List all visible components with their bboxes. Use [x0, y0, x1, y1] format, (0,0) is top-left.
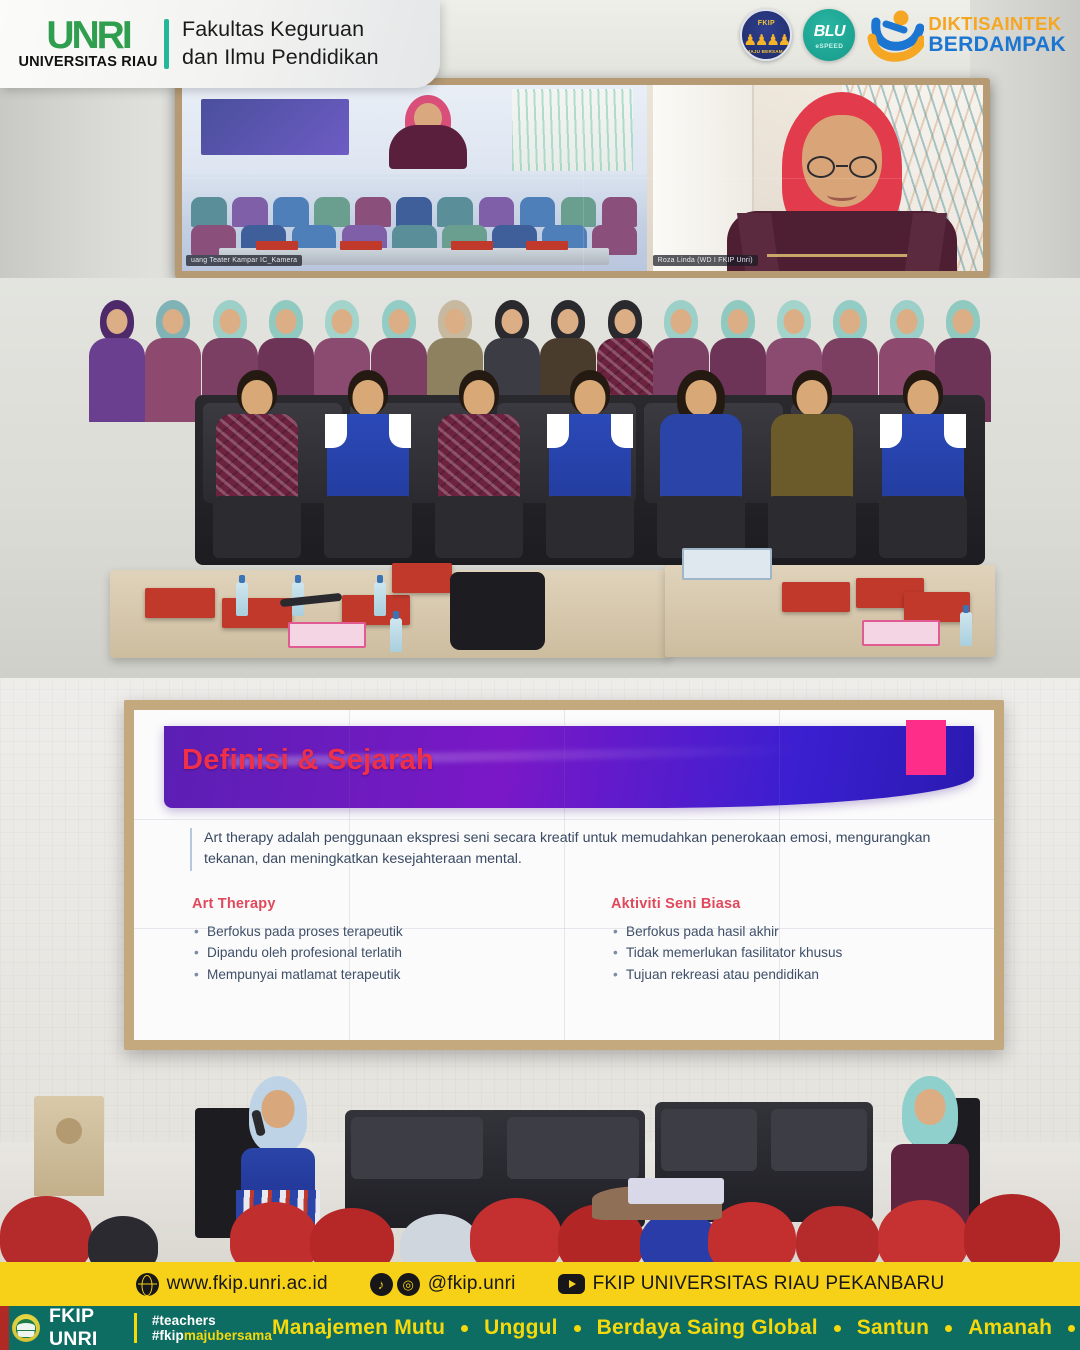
backpack	[450, 572, 545, 650]
footer-hashtags: #teachers #fkipmajubersama	[152, 1313, 272, 1343]
blu-sub: eSPEED	[803, 43, 855, 50]
youtube-channel: FKIP UNIVERSITAS RIAU PEKANBARU	[593, 1273, 945, 1295]
instagram-icon: ◎	[397, 1273, 420, 1296]
youtube-item[interactable]: FKIP UNIVERSITAS RIAU PEKANBARU	[558, 1273, 945, 1295]
slide-column-left: Art Therapy Berfokus pada proses terapeu…	[192, 896, 563, 985]
tagline-word: Berdaya Saing Global	[597, 1316, 818, 1340]
tagline-word: Manajemen Mutu	[272, 1316, 445, 1340]
footer-red-accent	[0, 1306, 9, 1350]
footer-divider	[134, 1313, 137, 1343]
social-handle: @fkip.unri	[428, 1273, 516, 1295]
list-item: Tujuan rekreasi atau pendidikan	[611, 964, 982, 985]
website-item[interactable]: www.fkip.unri.ac.id	[136, 1273, 328, 1296]
list-item: Tidak memerlukan fasilitator khusus	[611, 942, 982, 963]
partner-logos: FKIP ♟♟♟♟ MAJU BERSAMA BLU eSPEED	[740, 8, 1066, 62]
video-wall-bezel-grid	[182, 85, 983, 271]
tagline-dot	[945, 1325, 952, 1332]
tagline-words: Manajemen Mutu Unggul Berdaya Saing Glob…	[272, 1316, 1080, 1340]
slide-pink-accent	[906, 720, 946, 775]
tissue-box	[682, 548, 772, 580]
blu-espeed-logo: BLU eSPEED	[803, 9, 855, 61]
list-item: Berfokus pada hasil akhir	[611, 921, 982, 942]
column-heading: Art Therapy	[192, 896, 563, 912]
footer-brand-name: FKIP UNRI	[49, 1305, 123, 1350]
list-item: Mempunyai matlamat terapeutik	[192, 964, 563, 985]
globe-icon	[136, 1273, 159, 1296]
tagline-word: Santun	[857, 1316, 929, 1340]
presentation-screen: Definisi & Sejarah Art therapy adalah pe…	[124, 700, 1004, 1050]
tiktok-icon: ♪	[370, 1273, 393, 1296]
gift-box	[145, 588, 215, 618]
photo-seminar-session: Definisi & Sejarah Art therapy adalah pe…	[0, 678, 1080, 1262]
running-figure-icon	[866, 8, 924, 62]
fkip-badge-bottom: MAJU BERSAMA	[742, 49, 790, 54]
slide-title: Definisi & Sejarah	[182, 744, 434, 777]
faculty-line-2: dan Ilmu Pendidikan	[182, 44, 379, 72]
slide-content: Definisi & Sejarah Art therapy adalah pe…	[134, 710, 994, 1040]
footer-brand: FKIP UNRI #teachers #fkipmajubersama	[0, 1305, 272, 1350]
faculty-line-1: Fakultas Keguruan	[182, 16, 379, 44]
youtube-icon	[558, 1274, 585, 1294]
tut-wuri-handayani-icon	[12, 1314, 40, 1342]
unri-mark-text: UNRI	[46, 14, 129, 57]
dikti-line-1: DIKTISAINTEK	[928, 15, 1066, 34]
header-banner: UNRI UNIVERSITAS RIAU Fakultas Keguruan …	[0, 0, 440, 88]
header-divider	[164, 19, 169, 69]
tagline-word: Amanah	[968, 1316, 1052, 1340]
unri-logo: UNRI UNIVERSITAS RIAU	[0, 18, 162, 71]
people-icon: ♟♟♟♟	[742, 31, 790, 49]
poster-root: uang Teater Kampar IC_Kamera Roza Linda …	[0, 0, 1080, 1350]
slide-paragraph: Art therapy adalah penggunaan ekspresi s…	[190, 828, 950, 871]
hashtag-prefix: #fkip	[152, 1328, 184, 1343]
unri-logo-subtitle: UNIVERSITAS RIAU	[14, 54, 162, 70]
photo-group-ceremony: uang Teater Kampar IC_Kamera Roza Linda …	[0, 0, 1080, 678]
list-item: Dipandu oleh profesional terlatih	[192, 942, 563, 963]
gift-box	[392, 563, 452, 593]
website-url: www.fkip.unri.ac.id	[167, 1273, 328, 1295]
social-item[interactable]: ♪ ◎ @fkip.unri	[370, 1273, 516, 1296]
dikti-line-2: BERDAMPAK	[928, 34, 1066, 55]
snack-box	[862, 620, 940, 646]
tagline-dot	[1068, 1325, 1075, 1332]
gift-box	[782, 582, 850, 612]
vip-seated-row	[205, 370, 975, 570]
tagline-dot	[834, 1325, 841, 1332]
fkip-badge-top: FKIP	[742, 20, 790, 27]
fkip-badge-logo: FKIP ♟♟♟♟ MAJU BERSAMA	[740, 9, 792, 61]
video-wall-screen: uang Teater Kampar IC_Kamera Roza Linda …	[175, 78, 990, 278]
column-heading: Aktiviti Seni Biasa	[611, 896, 982, 912]
hashtag-accent: majubersama	[184, 1328, 272, 1343]
blu-main: BLU	[803, 23, 855, 41]
column-list: Berfokus pada proses terapeutik Dipandu …	[192, 921, 563, 985]
slide-column-right: Aktiviti Seni Biasa Berfokus pada hasil …	[611, 896, 982, 985]
column-list: Berfokus pada hasil akhir Tidak memerluk…	[611, 921, 982, 985]
contact-bar: www.fkip.unri.ac.id ♪ ◎ @fkip.unri FKIP …	[0, 1262, 1080, 1306]
audience-row	[0, 1152, 1080, 1262]
tagline-dot	[461, 1325, 468, 1332]
tagline-word: Unggul	[484, 1316, 558, 1340]
slide-columns: Art Therapy Berfokus pada proses terapeu…	[192, 896, 982, 985]
hashtag-majubersama: #fkipmajubersama	[152, 1328, 272, 1343]
diktisaintek-logo: DIKTISAINTEK BERDAMPAK	[866, 8, 1066, 62]
list-item: Berfokus pada proses terapeutik	[192, 921, 563, 942]
faculty-name: Fakultas Keguruan dan Ilmu Pendidikan	[182, 16, 379, 71]
tagline-dot	[574, 1325, 581, 1332]
tagline-bar: FKIP UNRI #teachers #fkipmajubersama Man…	[0, 1306, 1080, 1350]
unri-wordmark: UNRI	[14, 18, 162, 54]
snack-box	[288, 622, 366, 648]
hashtag-teachers: #teachers	[152, 1313, 272, 1328]
